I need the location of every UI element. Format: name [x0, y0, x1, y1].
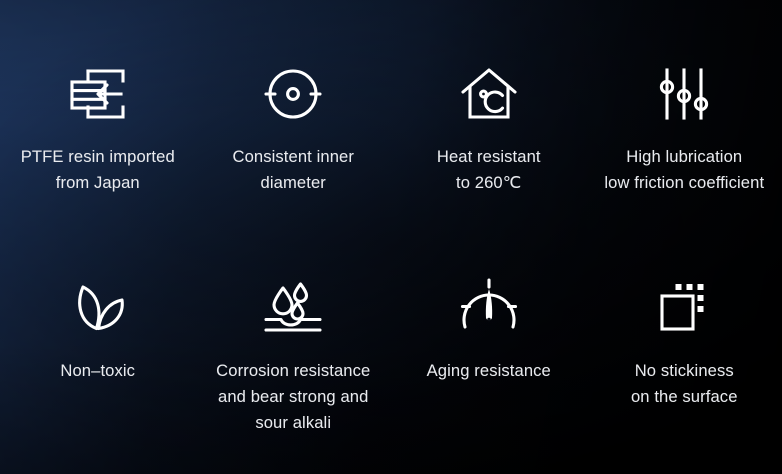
inner-diameter-icon: [256, 57, 330, 131]
feature-item-non-toxic: Non–toxic: [0, 237, 196, 384]
leaves-icon: [61, 270, 135, 344]
feature-grid: PTFE resin imported from Japan Consisten…: [0, 0, 782, 474]
feature-label: Non–toxic: [60, 358, 135, 384]
feature-label: Aging resistance: [427, 358, 551, 384]
feature-label: Consistent inner diameter: [232, 144, 354, 196]
feature-highlights-banner: PTFE resin imported from Japan Consisten…: [0, 0, 782, 474]
feature-item-aging-resistance: Aging resistance: [391, 237, 587, 384]
feature-label: Heat resistant to 260℃: [437, 144, 541, 196]
water-droplets-surface-icon: [256, 270, 330, 344]
feature-item-corrosion-resistance: Corrosion resistance and bear strong and…: [196, 237, 392, 437]
feature-item-heat-resistant: Heat resistant to 260℃: [391, 0, 587, 196]
feature-label: PTFE resin imported from Japan: [21, 144, 175, 196]
feature-item-inner-diameter: Consistent inner diameter: [196, 0, 392, 196]
sliders-icon: [647, 57, 721, 131]
feature-item-no-stickiness: No stickiness on the surface: [587, 237, 782, 410]
feature-label: High lubrication low friction coefficien…: [604, 144, 764, 196]
feature-label: No stickiness on the surface: [631, 358, 738, 410]
import-document-icon: [61, 57, 135, 131]
heat-house-celsius-icon: [452, 57, 526, 131]
feature-item-lubrication: High lubrication low friction coefficien…: [587, 0, 782, 196]
feature-item-ptfe-resin: PTFE resin imported from Japan: [0, 0, 196, 196]
non-stick-surface-icon: [647, 270, 721, 344]
gauge-icon: [452, 270, 526, 344]
feature-label: Corrosion resistance and bear strong and…: [216, 358, 370, 437]
